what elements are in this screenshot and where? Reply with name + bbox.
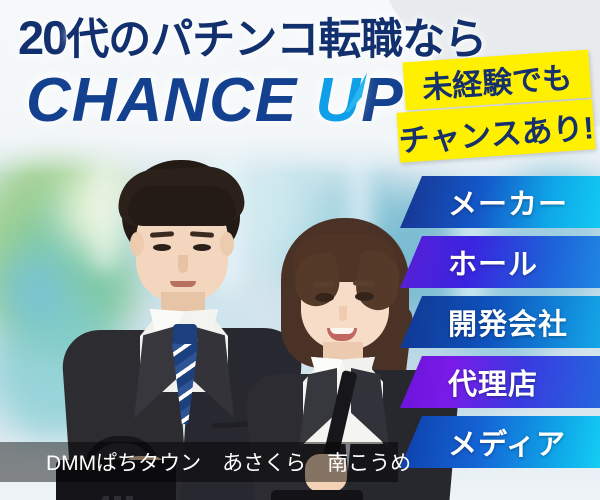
menu-item-development-company[interactable]: 開発会社 xyxy=(400,296,600,348)
woman-eye-left xyxy=(315,293,334,302)
promo-badge: 未経験でも チャンスあり! xyxy=(398,56,594,162)
man-tie-knot xyxy=(173,324,197,344)
man-briefcase-clasp xyxy=(102,496,138,500)
man-eye-left xyxy=(153,244,171,251)
menu-item-maker[interactable]: メーカー xyxy=(400,176,600,228)
logo-text-chance: CHANCE xyxy=(26,66,315,135)
man-nose xyxy=(178,255,188,273)
man-ear-right xyxy=(220,232,234,256)
category-menu: メーカー ホール 開発会社 代理店 メディア xyxy=(400,176,600,494)
man-fringe xyxy=(128,186,236,226)
menu-item-hall[interactable]: ホール xyxy=(400,236,600,288)
woman-nose xyxy=(339,306,347,321)
woman-eye-right xyxy=(355,292,374,301)
man-mouth xyxy=(170,281,196,287)
man-eye-right xyxy=(193,244,211,251)
logo-chance-up: CHANCE UP xyxy=(26,70,404,132)
headline: 20代のパチンコ転職なら xyxy=(18,14,486,62)
caption-bar: DMMぱちタウン あさくら 南こうめ xyxy=(0,442,398,482)
headline-number: 20 xyxy=(18,11,66,64)
woman-bag xyxy=(271,490,363,500)
woman-eyebrow-right xyxy=(353,280,375,286)
advertisement-banner[interactable]: 20代のパチンコ転職なら CHANCE UP 未経験でも チャンスあり! メーカ… xyxy=(0,0,600,500)
menu-item-media[interactable]: メディア xyxy=(400,416,600,468)
woman-teeth xyxy=(330,328,354,334)
logo-u-accent: U xyxy=(315,70,361,132)
man-ear-left xyxy=(130,232,144,256)
menu-item-agency[interactable]: 代理店 xyxy=(400,356,600,408)
